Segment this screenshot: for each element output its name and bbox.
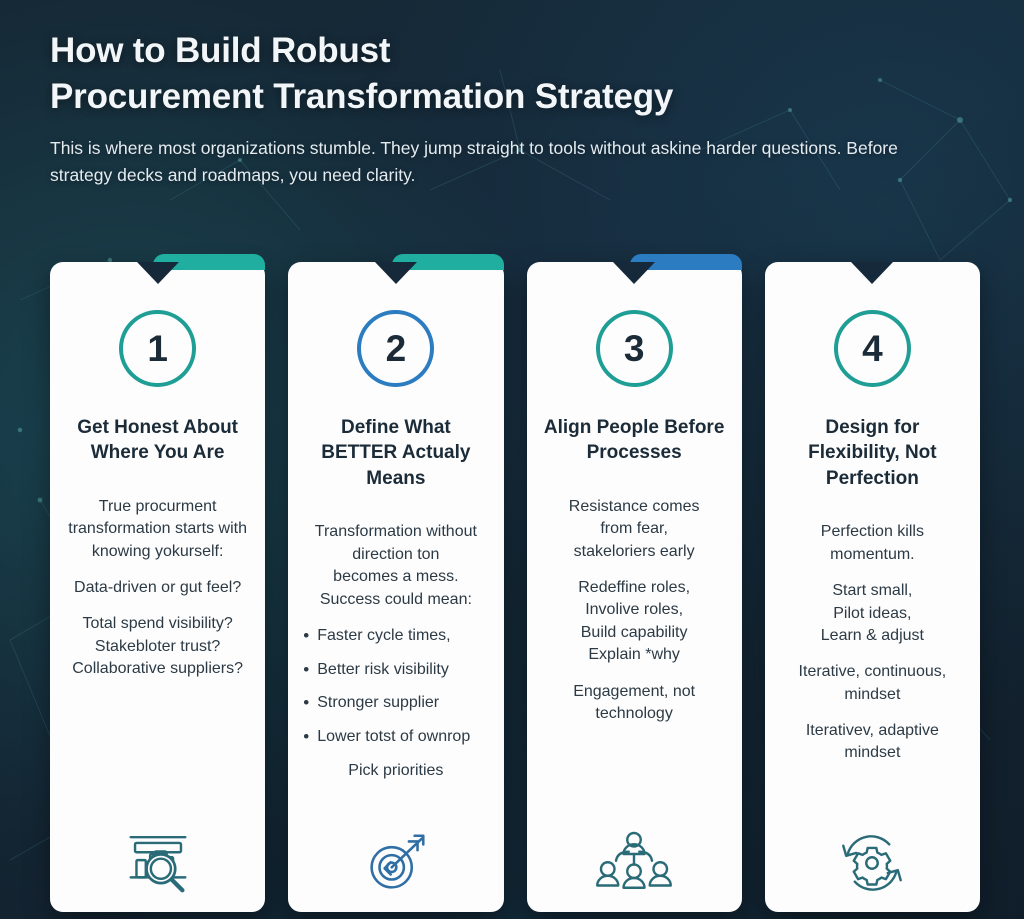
list-item: Faster cycle times, <box>302 625 489 648</box>
title-line-2: Procurement Transformation Strategy <box>50 74 980 120</box>
header-block: How to Build Robust Procurement Transfor… <box>50 28 980 188</box>
bar-chart-magnifier-icon <box>115 818 201 896</box>
card-paragraph: Iterative, continuous, mindset <box>779 661 966 706</box>
card-title-3: Align People Before Processes <box>541 415 728 466</box>
card-body-4: Perfection kills momentum. Start small, … <box>779 521 966 779</box>
step-number-badge-4: 4 <box>834 310 911 387</box>
step-cards-row: 1 Get Honest About Where You Are True pr… <box>50 262 980 912</box>
title-line-1: How to Build Robust <box>50 28 980 74</box>
card-title-2: Define What BETTER Actualy Means <box>302 415 489 491</box>
step-card-2[interactable]: 2 Define What BETTER Actualy Means Trans… <box>288 262 503 912</box>
people-network-icon <box>591 818 677 896</box>
card-bullet-list-2: Faster cycle times, Better risk visibili… <box>302 625 489 749</box>
card-notch-2 <box>375 262 417 284</box>
card-notch-1 <box>137 262 179 284</box>
card-paragraph: Perfection kills momentum. <box>779 521 966 566</box>
card-paragraph: Redeffine roles, Involive roles, Build c… <box>541 577 728 667</box>
card-notch-4 <box>851 262 893 284</box>
card-paragraph: Transformation without direction ton bec… <box>302 521 489 611</box>
step-card-4[interactable]: 4 Design for Flexibility, Not Perfection… <box>765 262 980 912</box>
step-number-badge-1: 1 <box>119 310 196 387</box>
list-item: Stronger supplier <box>302 692 489 715</box>
step-card-3[interactable]: 3 Align People Before Processes Resistan… <box>527 262 742 912</box>
step-card-1[interactable]: 1 Get Honest About Where You Are True pr… <box>50 262 265 912</box>
card-notch-3 <box>613 262 655 284</box>
card-paragraph: Resistance comes from fear, stakeloriers… <box>541 496 728 563</box>
card-paragraph: Total spend visibility? Stakebloter trus… <box>64 613 251 680</box>
card-paragraph: Iterativev, adaptive mindset <box>779 720 966 765</box>
card-paragraph: Start small, Pilot ideas, Learn & adjust <box>779 580 966 647</box>
card-paragraph: True procurment transformation starts wi… <box>64 496 251 563</box>
page-subtitle: This is where most organizations stumble… <box>50 135 940 188</box>
card-title-4: Design for Flexibility, Not Perfection <box>779 415 966 491</box>
gear-refresh-icon <box>829 818 915 896</box>
card-paragraph: Data-driven or gut feel? <box>64 577 251 599</box>
list-item: Better risk visibility <box>302 659 489 682</box>
card-title-1: Get Honest About Where You Are <box>64 415 251 466</box>
list-item: Lower totst of ownrop <box>302 726 489 749</box>
card-paragraph: Engagement, not technology <box>541 681 728 726</box>
infographic-canvas: How to Build Robust Procurement Transfor… <box>0 0 1024 919</box>
card-bullet-tail: Pick priorities <box>302 760 489 782</box>
page-title: How to Build Robust Procurement Transfor… <box>50 28 980 119</box>
card-body-1: True procurment transformation starts wi… <box>64 496 251 695</box>
card-body-2: Transformation without direction ton bec… <box>302 521 489 782</box>
target-arrow-icon <box>353 818 439 896</box>
step-number-badge-3: 3 <box>596 310 673 387</box>
step-number-badge-2: 2 <box>357 310 434 387</box>
card-body-3: Resistance comes from fear, stakeloriers… <box>541 496 728 740</box>
